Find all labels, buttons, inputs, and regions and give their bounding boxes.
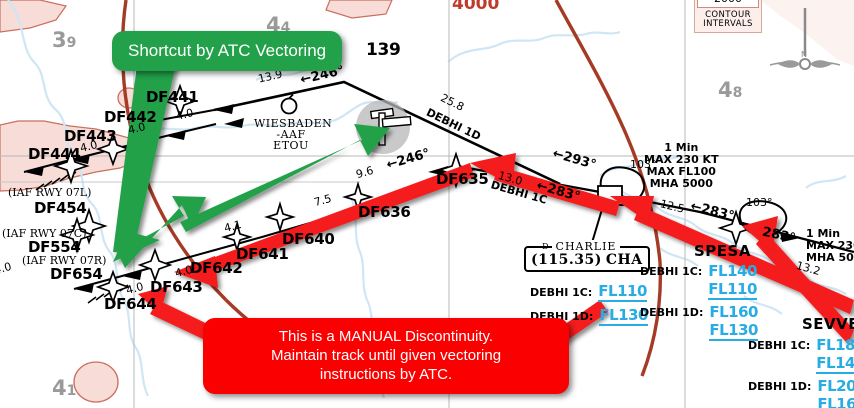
callout-red-line1: This is a MANUAL Discontinuity.: [221, 327, 551, 346]
altitude-value: FL140: [708, 262, 757, 280]
grid-label-39: 39: [52, 28, 76, 52]
altitude-value: FL110: [708, 280, 757, 300]
navaid-type-ident: D: [542, 242, 548, 251]
altitude-table-spesa: DEBHI 1C: FL140 FL110 DEBHI 1D: FL160 FL…: [640, 262, 758, 341]
altitude-row: DEBHI 1C: FL140 FL110: [640, 262, 758, 300]
waypoint-label-DF635: DF635: [436, 170, 489, 188]
waypoint-label-DF636: DF636: [358, 203, 411, 221]
compass-north-label: N: [801, 50, 807, 59]
navaid-box-charlie: D CHARLIE (115.35) CHA: [524, 246, 650, 272]
grid-mora-label: 139: [366, 40, 401, 60]
altitude-row: DEBHI 1D: FL160 FL130: [640, 303, 758, 341]
altitude-row: DEBHI 1C: FL110: [530, 282, 648, 302]
green-shortcut-arrows: [113, 55, 390, 268]
waypoint-label-DF444: DF444: [28, 145, 81, 163]
altitude-tint-label: 4000: [452, 0, 499, 14]
contour-intervals-legend: 4000 2000 CONTOUR INTERVALS: [694, 0, 762, 33]
navaid-frequency: (115.35): [531, 252, 602, 268]
holding-restrictions-sevve: 1 Min MAX 230 KT MHA 5000: [806, 228, 854, 264]
waypoint-label-DF454: DF454: [34, 199, 87, 217]
waypoint-label-DF644: DF644: [104, 295, 157, 313]
navaid-code: CHA: [606, 252, 643, 268]
waypoint-label-SPESA: SPESA: [694, 242, 751, 260]
altitude-value-stack: FL180 FL140: [816, 336, 854, 374]
altitude-value-stack: FL200 FL160: [817, 377, 854, 408]
altitude-row-label: DEBHI 1D:: [748, 377, 811, 393]
altitude-row: DEBHI 1D: FL200 FL160: [748, 377, 854, 408]
waypoint-label-SEVVE: SEVVE: [802, 315, 854, 333]
waypoint-label-DF643: DF643: [150, 278, 203, 296]
callout-green-atc-vectoring[interactable]: Shortcut by ATC Vectoring: [112, 31, 342, 71]
contour-lower-band: 2000: [697, 0, 759, 8]
iaf-note-DF454: (IAF RWY 07L): [8, 186, 91, 199]
altitude-row-label: DEBHI 1D:: [640, 303, 703, 319]
altitude-value: FL180: [816, 336, 854, 354]
waypoint-label-DF640: DF640: [282, 230, 335, 248]
callout-green-text: Shortcut by ATC Vectoring: [128, 41, 326, 60]
callout-red-line3: instructions by ATC.: [221, 365, 551, 384]
callout-red-manual-discontinuity[interactable]: This is a MANUAL Discontinuity. Maintain…: [203, 318, 569, 394]
airport-name-label: WIESBADEN -AAF ETOU: [254, 118, 328, 151]
contour-caption: CONTOUR INTERVALS: [697, 11, 759, 30]
altitude-value: FL160: [709, 303, 758, 321]
callout-red-line2: Maintain track until given vectoring: [221, 346, 551, 365]
altitude-table-sevve: DEBHI 1C: FL180 FL140 DEBHI 1D: FL200 FL…: [748, 336, 854, 408]
hold-brg-103-b: 103°: [746, 196, 773, 209]
holding-restrictions-spesa: 1 Min MAX 230 KT MAX FL100 MHA 5000: [644, 142, 719, 190]
altitude-row-label: DEBHI 1C:: [530, 286, 592, 299]
altitude-value: FL160: [817, 395, 854, 408]
altitude-value-stack: FL140 FL110: [708, 262, 757, 300]
airport-symbol: [282, 95, 297, 114]
aviation-chart-screenshot: 39 44 48 41 4000 139 WIESBADEN -AAF ETOU…: [0, 0, 854, 408]
waypoint-label-DF441: DF441: [146, 88, 199, 106]
waypoint-label-DF641: DF641: [236, 245, 289, 263]
grid-label-48: 48: [718, 78, 742, 102]
altitude-value: FL140: [816, 354, 854, 374]
altitude-row-label: DEBHI 1C:: [748, 336, 810, 352]
altitude-row: DEBHI 1C: FL180 FL140: [748, 336, 854, 374]
waypoint-label-DF642: DF642: [190, 259, 243, 277]
altitude-row-label: DEBHI 1C:: [640, 262, 702, 278]
altitude-value: FL200: [817, 377, 854, 395]
waypoint-label-DF654: DF654: [50, 265, 103, 283]
grid-label-41: 41: [52, 376, 76, 400]
